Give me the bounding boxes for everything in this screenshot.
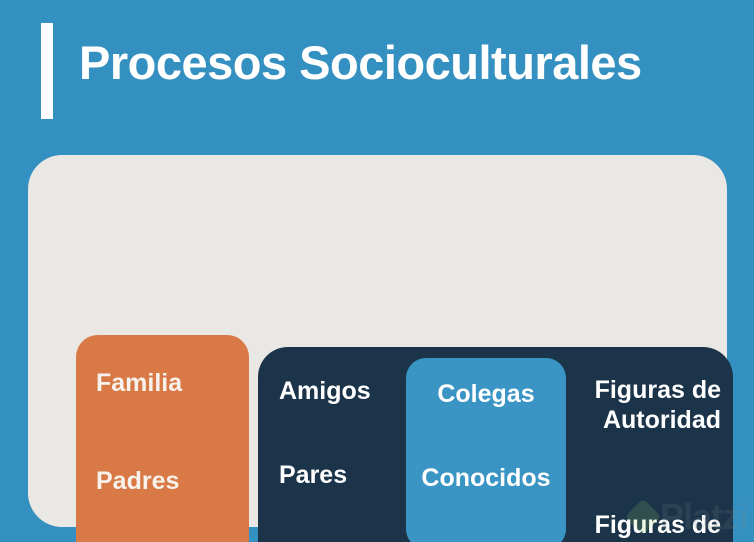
family-item-padres: Padres [96, 466, 246, 496]
title-accent-bar [41, 23, 53, 119]
colleagues-item-colegas: Colegas [406, 379, 566, 409]
slide-canvas: Procesos Socioculturales Familia Padres … [0, 0, 754, 542]
peers-item-pares: Pares [279, 460, 347, 490]
authority-item-figuras-de-autoridad: Figuras de Autoridad [595, 375, 721, 435]
colleagues-group-box[interactable]: Colegas Conocidos [406, 358, 566, 542]
peers-item-amigos: Amigos [279, 376, 371, 406]
title-block: Procesos Socioculturales [41, 20, 701, 130]
outer-card: Familia Padres Hermanos Amigos Pares Col… [28, 155, 727, 527]
authority-item-figuras-de-referencia: Figuras de Referencia [593, 510, 721, 542]
colleagues-item-conocidos: Conocidos [406, 463, 566, 493]
page-title: Procesos Socioculturales [79, 34, 642, 92]
family-item-familia: Familia [96, 368, 246, 398]
family-group-box[interactable]: Familia Padres Hermanos [76, 335, 249, 542]
peers-group-box[interactable]: Amigos Pares Colegas Conocidos Figuras d… [258, 347, 733, 542]
